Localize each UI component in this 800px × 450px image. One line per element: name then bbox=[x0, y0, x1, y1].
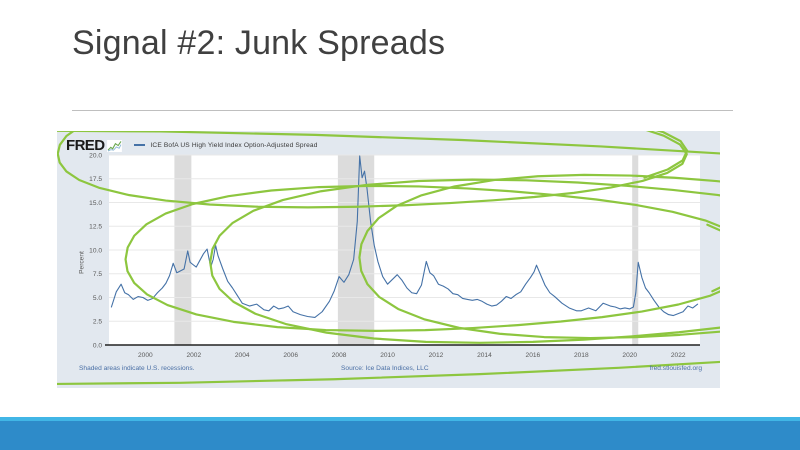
title-divider bbox=[72, 110, 733, 111]
footer-source-note: Source: Ice Data Indices, LLC bbox=[341, 365, 429, 372]
y-tick-label: 12.5 bbox=[89, 224, 102, 231]
y-tick-label: 2.5 bbox=[93, 319, 102, 326]
x-tick-label: 2018 bbox=[574, 352, 589, 359]
x-tick-label: 2016 bbox=[526, 352, 541, 359]
x-tick-label: 2022 bbox=[671, 352, 686, 359]
accent-stripe-dark bbox=[0, 421, 800, 450]
y-tick-label: 7.5 bbox=[93, 271, 102, 278]
x-tick-label: 2006 bbox=[283, 352, 298, 359]
chart-plot-area: 0.02.55.07.510.012.515.017.520.0 2000200… bbox=[57, 131, 720, 388]
y-tick-label: 15.0 bbox=[89, 200, 102, 207]
x-tick-label: 2012 bbox=[429, 352, 444, 359]
line-chart-svg: 0.02.55.07.510.012.515.017.520.0 2000200… bbox=[57, 131, 720, 388]
y-tick-label: 20.0 bbox=[89, 152, 102, 159]
y-tick-label: 17.5 bbox=[89, 176, 102, 183]
y-axis-ticks: 0.02.55.07.510.012.515.017.520.0 bbox=[89, 152, 102, 349]
fred-chart-panel: FRED ICE BofA US High Yield Index Option… bbox=[57, 131, 720, 388]
x-tick-label: 2010 bbox=[380, 352, 395, 359]
page-title: Signal #2: Junk Spreads bbox=[72, 24, 445, 63]
fred-chart-footer: Shaded areas indicate U.S. recessions. S… bbox=[57, 365, 720, 381]
y-tick-label: 5.0 bbox=[93, 295, 102, 302]
x-tick-label: 2004 bbox=[235, 352, 250, 359]
x-tick-label: 2000 bbox=[138, 352, 153, 359]
x-tick-label: 2002 bbox=[186, 352, 201, 359]
x-tick-label: 2014 bbox=[477, 352, 492, 359]
x-tick-label: 2020 bbox=[622, 352, 637, 359]
x-tick-label: 2008 bbox=[332, 352, 347, 359]
x-axis-ticks: 2000200220042006200820102012201420162018… bbox=[138, 352, 686, 359]
y-tick-label: 0.0 bbox=[93, 342, 102, 349]
y-tick-label: 10.0 bbox=[89, 247, 102, 254]
footer-recession-note: Shaded areas indicate U.S. recessions. bbox=[79, 365, 194, 372]
y-axis-label: Percent bbox=[79, 233, 86, 293]
footer-url[interactable]: fred.stlouisfed.org bbox=[650, 365, 702, 372]
